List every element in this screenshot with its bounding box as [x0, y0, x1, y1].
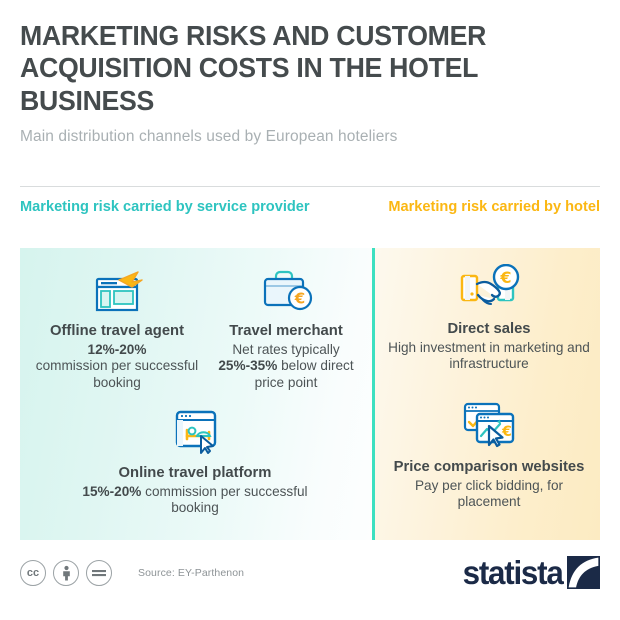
column-heading-right-text: Marketing risk carried by hotel — [388, 199, 600, 215]
page-title: MARKETING RISKS AND CUSTOMER ACQUISITION… — [20, 20, 583, 117]
cc-nd-equals-icon — [86, 560, 112, 586]
channel-online-travel-platform: Online travel platform 15%-20% commissio… — [64, 406, 326, 517]
browser-bed-cursor-icon — [64, 406, 326, 458]
header-divider — [20, 186, 600, 187]
statista-logo-mark — [567, 556, 600, 589]
cc-icon-label: cc — [27, 567, 39, 579]
channel-value: 12%-20% — [88, 342, 147, 357]
infographic-page: MARKETING RISKS AND CUSTOMER ACQUISITION… — [0, 0, 620, 620]
channel-name: Price comparison websites — [385, 459, 593, 476]
statista-logo: statista — [460, 556, 600, 589]
channel-value: 15%-20% — [82, 484, 141, 499]
channel-travel-merchant: € Travel merchant Net rates typically 25… — [206, 264, 366, 391]
channel-desc: Net rates typically 25%-35% below direct… — [206, 342, 366, 391]
channel-direct-sales: € Direct sales High investment in market… — [385, 262, 593, 373]
channel-desc: 12%-20% commission per successful bookin… — [26, 342, 208, 391]
column-heading-service-provider: Marketing risk carried by service provid… — [20, 198, 310, 217]
creative-commons-badges: cc — [20, 560, 112, 586]
channel-desc: High investment in marketing and infrast… — [385, 340, 593, 373]
channel-name: Offline travel agent — [26, 323, 208, 340]
channel-offline-travel-agent: Offline travel agent 12%-20% commission … — [26, 264, 208, 391]
channel-name: Direct sales — [385, 321, 593, 338]
source-text: Source: EY-Parthenon — [138, 567, 244, 579]
equals-glyph — [92, 569, 106, 577]
cc-by-person-icon — [53, 560, 79, 586]
browser-chart-euro-cursor-icon: € — [385, 400, 593, 452]
handshake-euro-icon: € — [385, 262, 593, 314]
svg-text:€: € — [294, 290, 305, 308]
person-glyph — [60, 565, 73, 581]
page-subtitle: Main distribution channels used by Europ… — [20, 128, 600, 146]
column-heading-hotel: Marketing risk carried by hotel — [388, 198, 600, 217]
channel-desc: 15%-20% commission per successful bookin… — [64, 484, 326, 517]
channel-desc-after: commission per successful booking — [36, 358, 198, 389]
channel-desc-after: commission per successful booking — [145, 484, 307, 515]
channel-desc: Pay per click bidding, for placement — [385, 478, 593, 511]
channel-value: 25%-35% — [218, 358, 277, 373]
storefront-airplane-icon — [26, 264, 208, 316]
channel-desc-before: Net rates typically — [232, 342, 339, 357]
panel-service-provider: Offline travel agent 12%-20% commission … — [20, 248, 372, 540]
column-heading-left-text: Marketing risk carried by service provid… — [20, 199, 310, 215]
statista-logo-text: statista — [462, 556, 562, 589]
channels-panels: Offline travel agent 12%-20% commission … — [20, 248, 600, 540]
channel-name: Online travel platform — [64, 465, 326, 482]
panel-hotel: € Direct sales High investment in market… — [375, 248, 600, 540]
briefcase-euro-icon: € — [206, 264, 366, 316]
channel-name: Travel merchant — [206, 323, 366, 340]
channel-price-comparison-websites: € Price comparison websites Pay per clic… — [385, 400, 593, 511]
header: MARKETING RISKS AND CUSTOMER ACQUISITION… — [20, 20, 600, 146]
footer: cc Source: EY-Parthenon statista — [20, 556, 600, 600]
svg-text:€: € — [499, 268, 511, 287]
cc-icon: cc — [20, 560, 46, 586]
